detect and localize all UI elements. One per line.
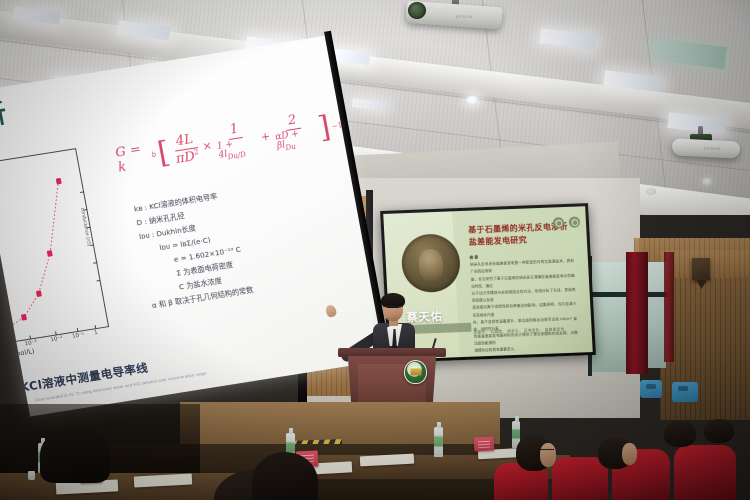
formula-plus: + bbox=[260, 130, 271, 144]
abstract-label: 摘 要 bbox=[470, 255, 479, 259]
chart-point bbox=[55, 178, 61, 185]
audience-member-face bbox=[622, 443, 637, 465]
formula-lhs-sub: b bbox=[151, 150, 157, 159]
formula-frac2-den-c: /D bbox=[237, 151, 246, 160]
ceiling-downlight bbox=[702, 178, 712, 185]
name-card bbox=[474, 436, 495, 451]
window-curtain bbox=[626, 252, 648, 374]
stool bbox=[640, 380, 662, 398]
ceiling-downlight bbox=[646, 188, 656, 195]
university-crest-icon bbox=[404, 360, 427, 384]
conductance-scatter-chart: 10⁻⁵ 10⁻⁴ 10⁻³ 10⁻² 10⁻¹ 1 concentration… bbox=[0, 148, 113, 373]
chart-x-axis-label: concentration (mol/L) bbox=[0, 347, 35, 366]
ceiling-downlight bbox=[466, 96, 479, 104]
x-tick-label: 1 bbox=[94, 330, 99, 336]
chart-point bbox=[47, 250, 53, 257]
chart-point bbox=[4, 325, 10, 332]
formula-legend-notes: kʙ : KCl溶液的体积电导率 D : 纳米孔孔径 lᴅᴜ : Dukhin长… bbox=[133, 187, 255, 313]
conductance-formula: G = kb [ 4L πD2 × 1 1 + 4lDu/D + 2 αD + … bbox=[114, 106, 346, 178]
window-curtain bbox=[664, 252, 674, 362]
podium-top bbox=[338, 348, 446, 357]
audience-member-head bbox=[664, 421, 696, 447]
formula-lhs: G = k bbox=[114, 141, 152, 176]
chart-point bbox=[21, 314, 27, 321]
formula-times: × bbox=[201, 139, 212, 153]
ceiling-projector-center: EPSON bbox=[400, 0, 510, 40]
stool bbox=[672, 382, 698, 402]
wall-speaker bbox=[692, 258, 710, 280]
formula-frac1-den-sup: 2 bbox=[193, 148, 199, 157]
paper-cup bbox=[28, 471, 35, 480]
ceiling-projector-right: EPSON bbox=[672, 132, 750, 172]
chart-point bbox=[36, 290, 42, 297]
x-tick-label: 10⁻³ bbox=[24, 340, 37, 348]
presentation-photo-scene: EPSON EPSON 析 bbox=[0, 0, 750, 500]
institute-seal-logo-icon bbox=[569, 216, 581, 227]
audience-seat bbox=[552, 457, 608, 500]
presenter-glasses-icon bbox=[383, 306, 403, 310]
foreground-head-silhouette bbox=[40, 427, 110, 483]
audience-member-glasses-icon bbox=[538, 449, 554, 450]
x-tick-label: 10⁻¹ bbox=[72, 332, 85, 340]
window-left bbox=[592, 262, 626, 372]
audience-seat bbox=[674, 445, 736, 500]
x-tick-label: 10⁻² bbox=[50, 336, 63, 344]
audience-member-head bbox=[704, 419, 734, 443]
water-bottle bbox=[434, 427, 443, 457]
audience-area bbox=[0, 415, 750, 500]
audience-member-face bbox=[540, 443, 556, 467]
slide-heading-character: 析 bbox=[0, 93, 10, 134]
formula-frac3-den-sub: Du bbox=[285, 143, 296, 152]
projector-lens-icon bbox=[408, 2, 426, 19]
x-tick-label: 10⁻⁴ bbox=[0, 344, 12, 352]
slide-abstract: 摘 要 纳米孔反电渗析盐差能发电是一种新型的可再生能源技术，具有广阔的应用前 景… bbox=[469, 251, 578, 355]
